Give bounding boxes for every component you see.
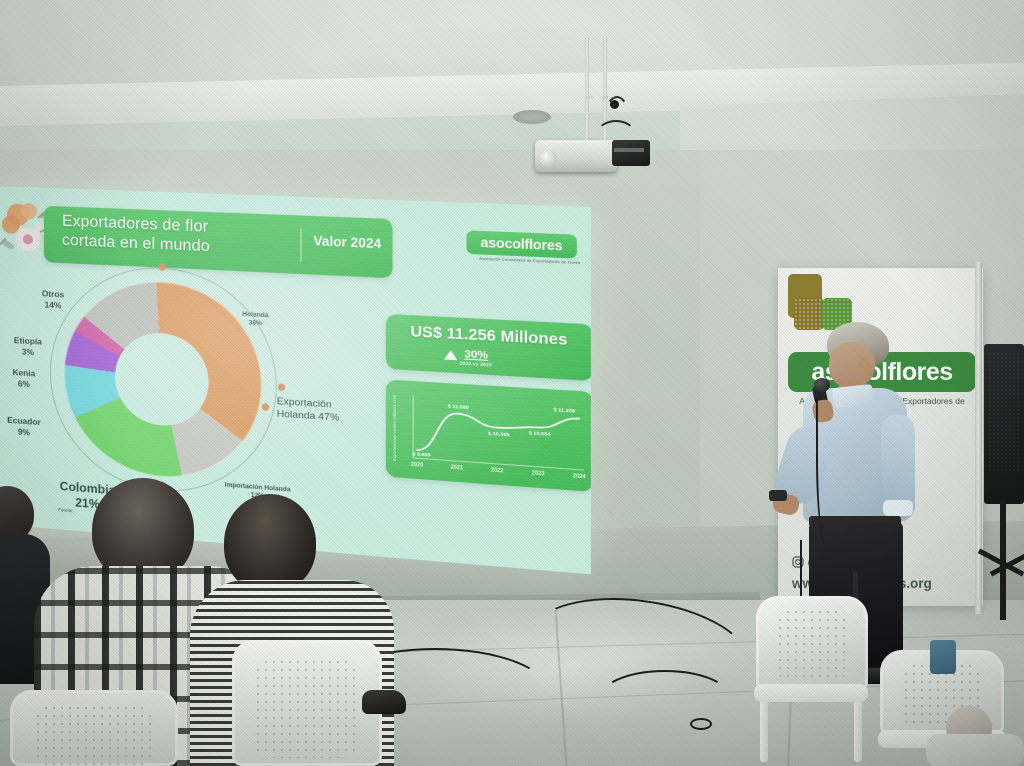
bottle-object: [930, 640, 956, 674]
banner-pole: [975, 262, 982, 614]
photo-scene: Exportadores de flor cortada en el mundo…: [0, 0, 1024, 766]
ceiling-vent: [513, 110, 551, 124]
donut-label-etiopia-name: Etiopía: [14, 335, 42, 347]
presenter-cuff: [883, 500, 913, 516]
donut-chart: [64, 277, 262, 484]
attendee-head: [224, 494, 316, 592]
asocolflores-logo-text: asocolflores: [481, 235, 563, 253]
microphone-cable: [816, 398, 834, 548]
chair-mesh-pattern: [34, 704, 154, 766]
donut-label-otros: Otros 14%: [28, 288, 78, 312]
stat-card-value: US$ 11.256 Millones: [386, 322, 591, 350]
chair-front-middle: [232, 640, 382, 766]
donut-label-kenia-name: Kenia: [12, 367, 35, 378]
donut-label-ecuador: Ecuador 9%: [0, 414, 50, 439]
presenter-ear: [859, 358, 870, 372]
attendee-body: [926, 734, 1024, 766]
stat-card-delta-note: 2024 vs 2023: [460, 360, 492, 367]
donut-label-kenia: Kenia 6%: [0, 366, 48, 390]
chair-seat: [754, 684, 868, 702]
presenter-collar: [832, 384, 874, 408]
donut-label-etiopia-value: 3%: [22, 346, 34, 357]
donut-label-ecuador-name: Ecuador: [7, 415, 41, 427]
trend-up-icon: [444, 350, 458, 360]
donut-label-holanda-name: Holanda: [242, 311, 268, 320]
asocolflores-logo: asocolflores: [466, 230, 576, 258]
slide-title: Exportadores de flor cortada en el mundo: [62, 213, 292, 261]
chair-front-left: [10, 690, 178, 766]
donut-label-ecuador-value: 9%: [18, 426, 30, 437]
callout-exportacion-holanda: Exportación Holanda 47%: [277, 396, 339, 425]
attendee-shoe: [362, 690, 406, 714]
donut-label-otros-value: 14%: [45, 299, 62, 310]
stat-card: US$ 11.256 Millones 30% 2024 vs 2023: [386, 314, 591, 381]
donut-label-holanda: Holanda 36%: [234, 310, 277, 328]
projector-mount-brace: [586, 96, 608, 99]
chair-right-1: [748, 596, 876, 766]
donut-label-kenia-value: 6%: [18, 378, 30, 389]
donut-label-etiopia: Etiopía 3%: [4, 334, 52, 358]
callout-dot: [262, 403, 269, 411]
presentation-clicker: [769, 490, 787, 501]
chair-mesh-pattern: [776, 608, 848, 682]
projector-mount-rod: [585, 38, 589, 146]
donut-label-otros-name: Otros: [42, 288, 65, 299]
donut-marker-dot: [278, 383, 286, 391]
slide-title-bar: Exportadores de flor cortada en el mundo…: [44, 206, 393, 278]
floor-cable-loop: [690, 718, 712, 730]
projector-cable-strap: [614, 148, 644, 152]
pa-speaker-grille: [988, 352, 1020, 472]
line-chart-card: Exportaciones totales millones US$ $ 8.6…: [386, 379, 591, 492]
slide-title-badge: Valor 2024: [313, 234, 381, 252]
floor-cable: [600, 670, 730, 724]
projector-lens-icon: [540, 150, 557, 167]
donut-marker-dot: [158, 263, 165, 271]
donut-label-holanda-value: 36%: [249, 319, 262, 327]
title-divider: [300, 228, 301, 261]
chair-mesh-pattern: [254, 658, 358, 758]
microphone-head-icon: [814, 378, 830, 392]
projector-cable-bundle: [612, 140, 650, 166]
attendee-right-edge: [926, 700, 1024, 766]
